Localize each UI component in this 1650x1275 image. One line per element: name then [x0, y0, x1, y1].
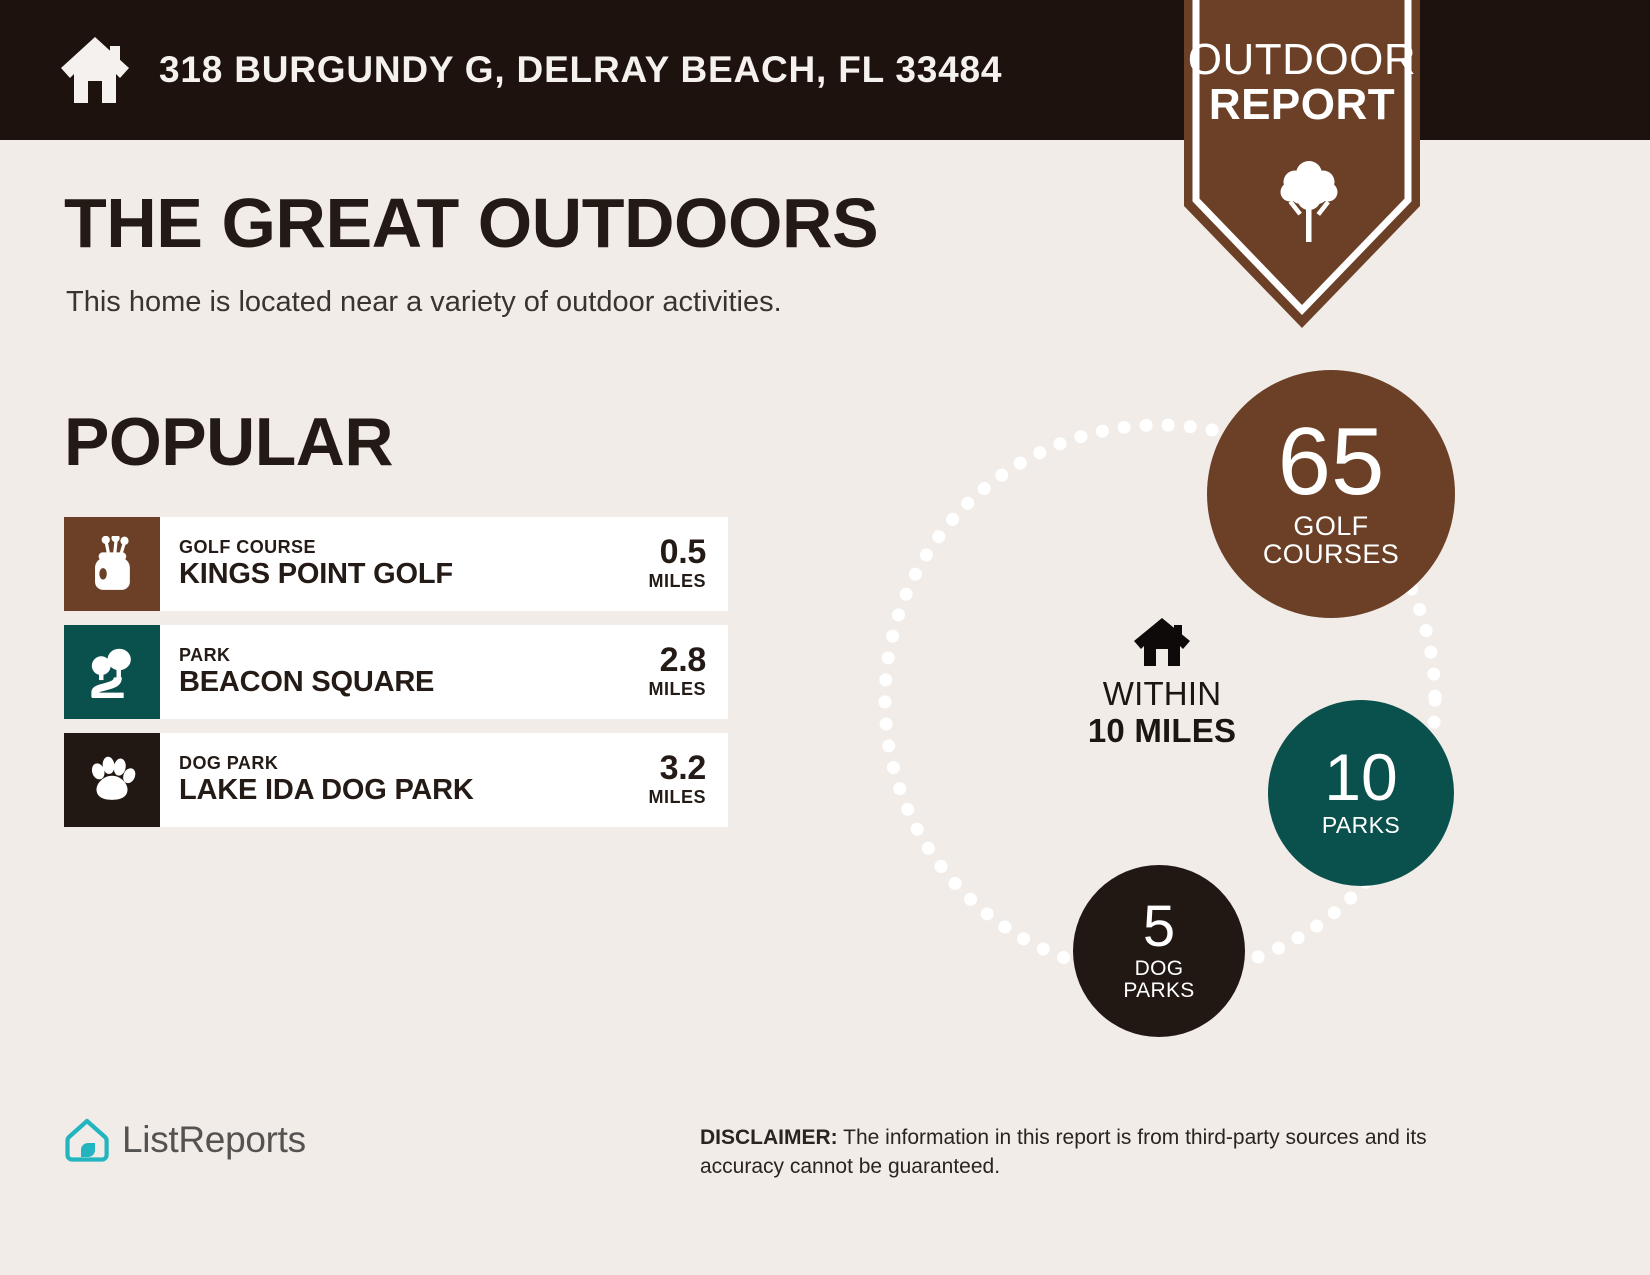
page-title: THE GREAT OUTDOORS [64, 188, 878, 258]
distance-value: 0.5 [648, 535, 706, 569]
list-item-distance: 2.8 MILES [648, 643, 712, 701]
list-item-category: PARK [179, 645, 648, 666]
list-item-name: KINGS POINT GOLF [179, 559, 648, 591]
home-icon [1132, 616, 1192, 668]
list-item-body: PARK BEACON SQUARE 2.8 MILES [160, 625, 728, 719]
list-item[interactable]: PARK BEACON SQUARE 2.8 MILES [64, 625, 728, 719]
section-title-popular: POPULAR [64, 408, 393, 476]
list-item-category: GOLF COURSE [179, 537, 648, 558]
paw-icon [64, 733, 160, 827]
home-icon [58, 34, 132, 106]
golf-bag-icon [64, 517, 160, 611]
stat-label-line-1: GOLF [1293, 511, 1368, 541]
stat-circle-parks: 10 PARKS [1268, 700, 1454, 886]
distance-unit: MILES [648, 571, 706, 593]
listreports-wordmark: ListReports [122, 1119, 306, 1161]
stat-label-line-1: DOG [1135, 957, 1184, 980]
stat-circle-dog-parks: 5 DOG PARKS [1073, 865, 1245, 1037]
stat-label: GOLF COURSES [1263, 513, 1399, 568]
within-line-2: 10 MILES [1018, 713, 1306, 750]
page-subtitle: This home is located near a variety of o… [66, 286, 782, 319]
stat-value: 5 [1143, 899, 1175, 954]
disclaimer: DISCLAIMER: The information in this repo… [700, 1123, 1510, 1182]
list-item[interactable]: DOG PARK LAKE IDA DOG PARK 3.2 MILES [64, 733, 728, 827]
outdoor-report-infographic: 318 BURGUNDY G, DELRAY BEACH, FL 33484 O… [0, 0, 1650, 1275]
distance-value: 2.8 [648, 643, 706, 677]
outdoor-report-badge: OUTDOOR REPORT [1122, 0, 1482, 332]
listreports-logo[interactable]: ListReports [64, 1117, 306, 1163]
list-item-distance: 0.5 MILES [648, 535, 712, 593]
stat-label-line-2: PARKS [1123, 979, 1194, 1002]
stat-label: PARKS [1322, 814, 1400, 837]
park-tree-icon [64, 625, 160, 719]
distance-unit: MILES [648, 679, 706, 701]
list-item-name: BEACON SQUARE [179, 667, 648, 699]
distance-value: 3.2 [648, 751, 706, 785]
tree-icon [1280, 158, 1338, 244]
list-item[interactable]: GOLF COURSE KINGS POINT GOLF 0.5 MILES [64, 517, 728, 611]
popular-list: GOLF COURSE KINGS POINT GOLF 0.5 MILES [64, 517, 728, 841]
stat-label: DOG PARKS [1123, 958, 1194, 1001]
stat-value: 10 [1324, 746, 1397, 809]
stat-label-line-2: COURSES [1263, 539, 1399, 569]
within-radius-label: WITHIN 10 MILES [1018, 616, 1306, 750]
stat-value: 65 [1278, 416, 1385, 507]
list-item-category: DOG PARK [179, 753, 648, 774]
list-item-body: GOLF COURSE KINGS POINT GOLF 0.5 MILES [160, 517, 728, 611]
listreports-house-icon [64, 1117, 110, 1163]
disclaimer-label: DISCLAIMER: [700, 1126, 838, 1149]
list-item-distance: 3.2 MILES [648, 751, 712, 809]
stat-circle-golf-courses: 65 GOLF COURSES [1207, 370, 1455, 618]
property-address: 318 BURGUNDY G, DELRAY BEACH, FL 33484 [159, 49, 1002, 91]
list-item-body: DOG PARK LAKE IDA DOG PARK 3.2 MILES [160, 733, 728, 827]
list-item-name: LAKE IDA DOG PARK [179, 775, 648, 807]
distance-unit: MILES [648, 787, 706, 809]
within-line-1: WITHIN [1018, 676, 1306, 713]
